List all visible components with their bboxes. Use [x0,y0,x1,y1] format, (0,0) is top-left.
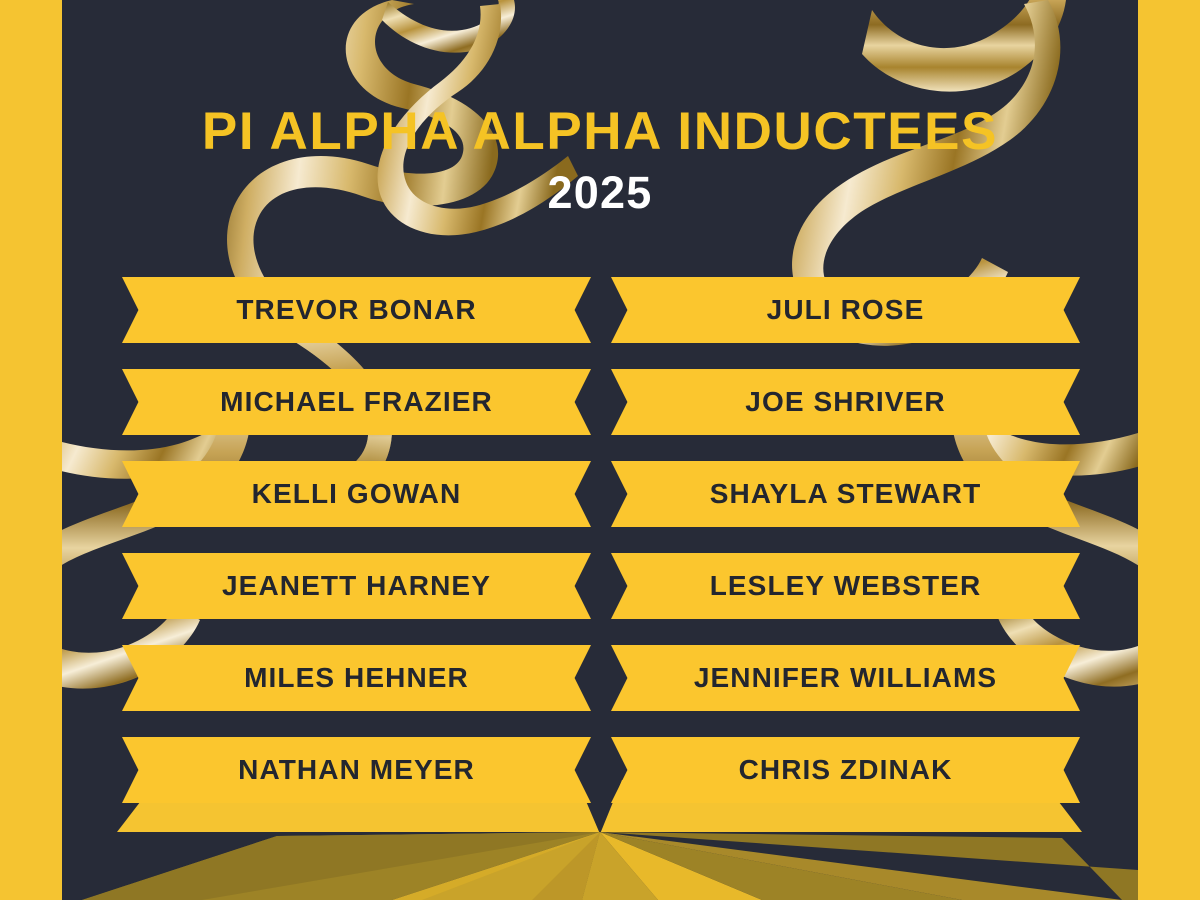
inductee-name: JEANETT HARNEY [222,572,491,600]
inductee-banner[interactable]: TREVOR BONAR [122,277,591,343]
inductee-name: TREVOR BONAR [236,296,476,324]
inductee-name: MILES HEHNER [244,664,469,692]
inductee-banner[interactable]: JEANETT HARNEY [122,553,591,619]
inductee-banner[interactable]: JOE SHRIVER [611,369,1080,435]
inductee-banner[interactable]: KELLI GOWAN [122,461,591,527]
inductee-banner[interactable]: LESLEY WEBSTER [611,553,1080,619]
inductee-banner[interactable]: SHAYLA STEWART [611,461,1080,527]
inductee-name: KELLI GOWAN [252,480,462,508]
inductee-name: JOE SHRIVER [745,388,945,416]
inductee-name: MICHAEL FRAZIER [220,388,493,416]
inductee-name: NATHAN MEYER [238,756,475,784]
inductee-name: JENNIFER WILLIAMS [694,664,997,692]
inductee-banner-grid: TREVOR BONAR MICHAEL FRAZIER KELLI GOWAN… [122,277,1080,803]
poster-inner-panel: PI ALPHA ALPHA INDUCTEES 2025 TREVOR BON… [62,0,1138,900]
inductee-banner[interactable]: MICHAEL FRAZIER [122,369,591,435]
inductee-column-left: TREVOR BONAR MICHAEL FRAZIER KELLI GOWAN… [122,277,591,803]
inductee-name: CHRIS ZDINAK [739,756,953,784]
page-title: PI ALPHA ALPHA INDUCTEES [62,104,1138,160]
inductee-banner[interactable]: JULI ROSE [611,277,1080,343]
inductee-name: SHAYLA STEWART [710,480,982,508]
inductee-banner[interactable]: CHRIS ZDINAK [611,737,1080,803]
year-subtitle: 2025 [62,170,1138,215]
inductee-banner[interactable]: NATHAN MEYER [122,737,591,803]
inductee-banner[interactable]: MILES HEHNER [122,645,591,711]
inductee-name: JULI ROSE [767,296,925,324]
inductee-name: LESLEY WEBSTER [710,572,982,600]
inductee-banner[interactable]: JENNIFER WILLIAMS [611,645,1080,711]
poster-canvas: PI ALPHA ALPHA INDUCTEES 2025 TREVOR BON… [0,0,1200,900]
title-block: PI ALPHA ALPHA INDUCTEES 2025 [62,104,1138,215]
inductee-column-right: JULI ROSE JOE SHRIVER SHAYLA STEWART LES… [611,277,1080,803]
